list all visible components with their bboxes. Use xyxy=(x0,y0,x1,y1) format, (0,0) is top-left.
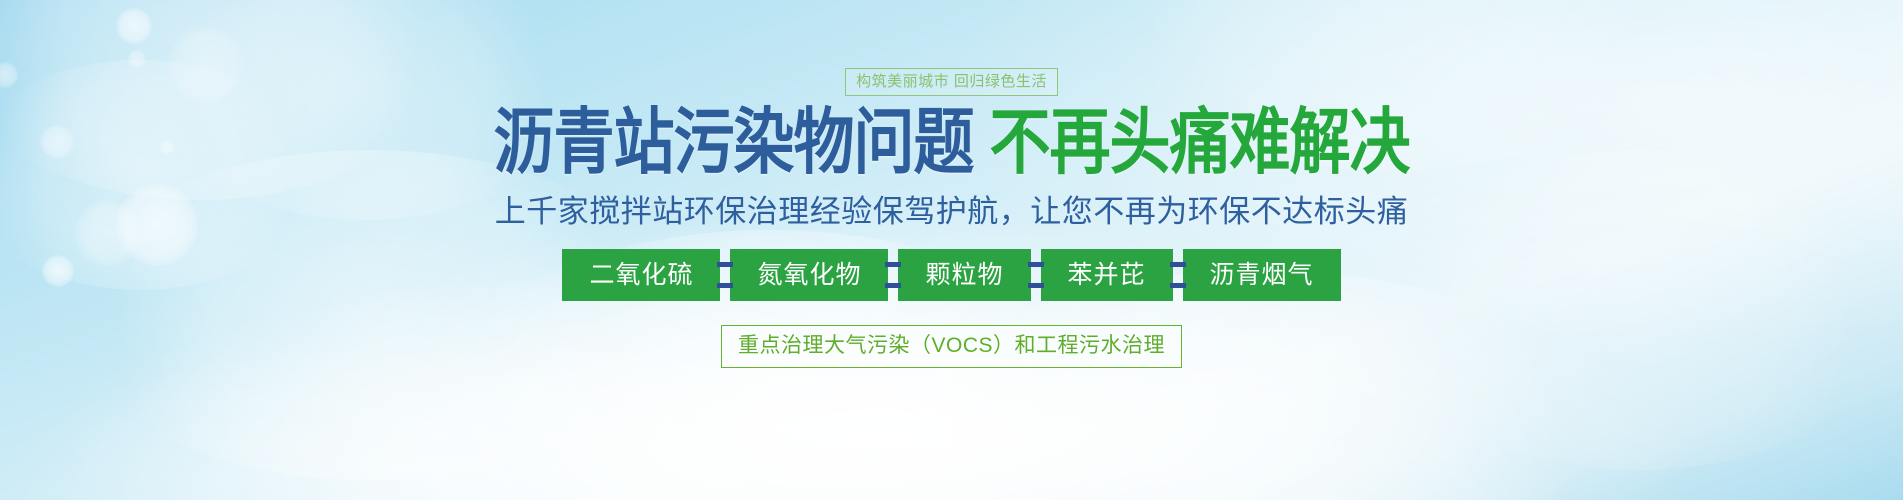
separator-dash-bottom xyxy=(885,283,901,288)
tagline-badge: 构筑美丽城市 回归绿色生活 xyxy=(845,68,1058,96)
tag-benzopyrene[interactable]: 苯并芘 xyxy=(1041,249,1173,301)
separator-dash-top xyxy=(885,262,901,267)
separator-dash-top xyxy=(1170,262,1186,267)
tag-label: 颗粒物 xyxy=(925,263,1003,288)
separator-dash-bottom xyxy=(717,283,733,288)
pollutant-tag-bar: 二氧化硫 氮氧化物 颗粒物 苯并芘 xyxy=(562,249,1340,301)
tag-nitrogen-oxides[interactable]: 氮氧化物 xyxy=(730,249,888,301)
tag-asphalt-fume[interactable]: 沥青烟气 xyxy=(1183,249,1341,301)
separator-dash-bottom xyxy=(1170,283,1186,288)
tag-separator xyxy=(888,249,898,301)
tag-separator xyxy=(1031,249,1041,301)
tag-label: 沥青烟气 xyxy=(1210,263,1314,288)
tag-separator xyxy=(1173,249,1183,301)
headline-primary: 沥青站污染物问题 xyxy=(493,101,973,185)
tag-label: 氮氧化物 xyxy=(757,263,861,288)
tag-label: 苯并芘 xyxy=(1068,263,1146,288)
hero-banner: 构筑美丽城市 回归绿色生活 沥青站污染物问题不再头痛难解决 上千家搅拌站环保治理… xyxy=(0,0,1903,500)
separator-dash-top xyxy=(717,262,733,267)
tag-separator xyxy=(720,249,730,301)
separator-dash-top xyxy=(1028,262,1044,267)
page-title: 沥青站污染物问题不再头痛难解决 xyxy=(493,107,1409,180)
tag-particulate-matter[interactable]: 颗粒物 xyxy=(898,249,1030,301)
tag-label: 二氧化硫 xyxy=(589,263,693,288)
footnote-badge: 重点治理大气污染（VOCS）和工程污水治理 xyxy=(721,325,1182,368)
tag-sulfur-dioxide[interactable]: 二氧化硫 xyxy=(562,249,720,301)
headline-secondary: 不再头痛难解决 xyxy=(990,101,1410,185)
banner-content: 构筑美丽城市 回归绿色生活 沥青站污染物问题不再头痛难解决 上千家搅拌站环保治理… xyxy=(0,0,1903,500)
page-subtitle: 上千家搅拌站环保治理经验保驾护航，让您不再为环保不达标头痛 xyxy=(495,195,1409,229)
separator-dash-bottom xyxy=(1028,283,1044,288)
